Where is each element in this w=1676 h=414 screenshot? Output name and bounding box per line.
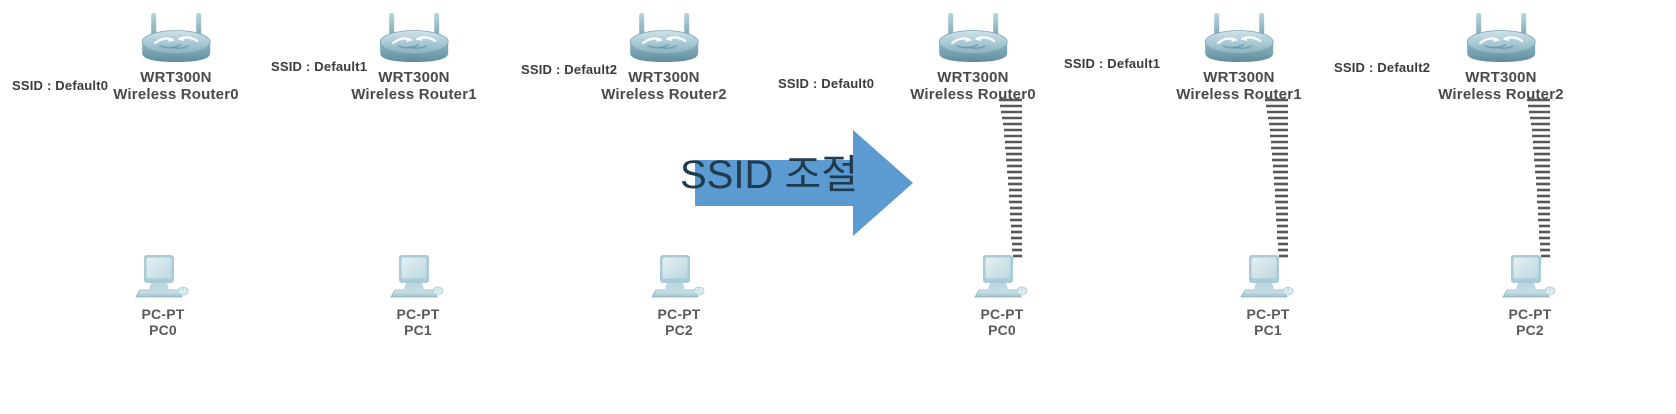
pc-name: PC0 bbox=[981, 322, 1024, 338]
pc-icon bbox=[389, 253, 447, 305]
router-model: WRT300N bbox=[1465, 69, 1536, 86]
pc-model: PC-PT bbox=[142, 306, 185, 322]
router-model: WRT300N bbox=[1203, 69, 1274, 86]
pc-label: PC-PT PC0 bbox=[981, 306, 1024, 338]
ssid-caption-left-0: SSID : Default0 bbox=[12, 78, 108, 93]
ssid-caption-right-0: SSID : Default0 bbox=[778, 76, 874, 91]
wireless-router-icon bbox=[930, 12, 1016, 68]
router-name: Wireless Router0 bbox=[910, 86, 1036, 103]
router-label: WRT300N Wireless Router2 bbox=[1438, 69, 1564, 104]
pc-icon bbox=[650, 253, 708, 305]
router-label: WRT300N Wireless Router0 bbox=[113, 69, 239, 104]
pc-name: PC1 bbox=[1247, 322, 1290, 338]
pc-model: PC-PT bbox=[397, 306, 440, 322]
pc-label: PC-PT PC1 bbox=[1247, 306, 1290, 338]
wireless-router-icon bbox=[621, 12, 707, 68]
pc-label: PC-PT PC2 bbox=[1509, 306, 1552, 338]
router-label: WRT300N Wireless Router0 bbox=[910, 69, 1036, 104]
pc-name: PC0 bbox=[142, 322, 185, 338]
router-model: WRT300N bbox=[140, 69, 211, 86]
pc-name: PC2 bbox=[658, 322, 701, 338]
topology-canvas: WRT300N Wireless Router0 SSID : Default0 bbox=[0, 0, 1676, 414]
router-name: Wireless Router1 bbox=[1176, 86, 1302, 103]
wireless-router-icon bbox=[371, 12, 457, 68]
router-model: WRT300N bbox=[628, 69, 699, 86]
pc-model: PC-PT bbox=[658, 306, 701, 322]
router-label: WRT300N Wireless Router1 bbox=[1176, 69, 1302, 104]
wireless-router-icon bbox=[1196, 12, 1282, 68]
pc-model: PC-PT bbox=[1509, 306, 1552, 322]
pc-icon bbox=[1501, 253, 1559, 305]
wireless-router-icon bbox=[1458, 12, 1544, 68]
pc-label: PC-PT PC1 bbox=[397, 306, 440, 338]
router-name: Wireless Router2 bbox=[601, 86, 727, 103]
pc-name: PC1 bbox=[397, 322, 440, 338]
router-name: Wireless Router2 bbox=[1438, 86, 1564, 103]
router-name: Wireless Router1 bbox=[351, 86, 477, 103]
ssid-caption-left-1: SSID : Default1 bbox=[271, 59, 367, 74]
wireless-router-icon bbox=[133, 12, 219, 68]
ssid-caption-right-2: SSID : Default2 bbox=[1334, 60, 1430, 75]
pc-label: PC-PT PC2 bbox=[658, 306, 701, 338]
router-model: WRT300N bbox=[378, 69, 449, 86]
pc-model: PC-PT bbox=[1247, 306, 1290, 322]
pc-icon bbox=[973, 253, 1031, 305]
router-label: WRT300N Wireless Router2 bbox=[601, 69, 727, 104]
router-label: WRT300N Wireless Router1 bbox=[351, 69, 477, 104]
router-name: Wireless Router0 bbox=[113, 86, 239, 103]
wireless-link-right-2 bbox=[1524, 96, 1560, 264]
pc-icon bbox=[1239, 253, 1297, 305]
router-model: WRT300N bbox=[937, 69, 1008, 86]
wireless-link-right-1 bbox=[1262, 96, 1298, 264]
ssid-caption-left-2: SSID : Default2 bbox=[521, 62, 617, 77]
pc-icon bbox=[134, 253, 192, 305]
wireless-link-right-0 bbox=[996, 96, 1032, 264]
pc-label: PC-PT PC0 bbox=[142, 306, 185, 338]
pc-model: PC-PT bbox=[981, 306, 1024, 322]
ssid-adjust-arrow-label: SSID 조절 bbox=[680, 155, 858, 195]
ssid-caption-right-1: SSID : Default1 bbox=[1064, 56, 1160, 71]
pc-name: PC2 bbox=[1509, 322, 1552, 338]
